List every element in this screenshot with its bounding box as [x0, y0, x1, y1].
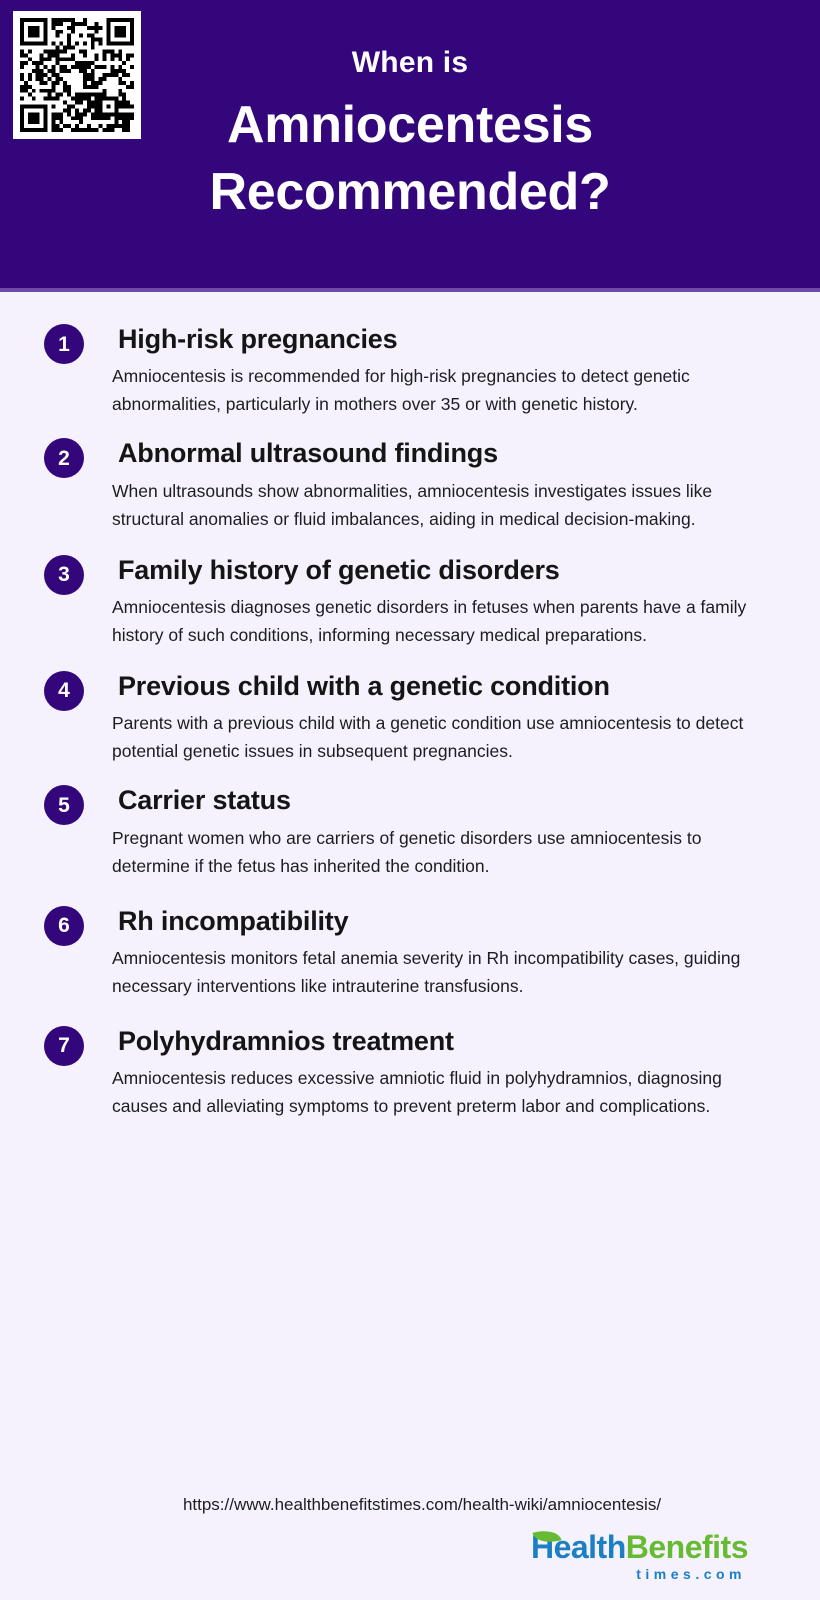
item-description: Amniocentesis reduces excessive amniotic… [112, 1064, 764, 1120]
list-item: 2 Abnormal ultrasound findings When ultr… [0, 434, 820, 532]
page-title-line2: Recommended? [160, 159, 660, 227]
item-description: When ultrasounds show abnormalities, amn… [112, 477, 764, 533]
logo-word-benefits: Benefits [626, 1529, 748, 1565]
list-item: 1 High-risk pregnancies Amniocentesis is… [0, 320, 820, 418]
list-item: 5 Carrier status Pregnant women who are … [0, 781, 820, 879]
item-body: High-risk pregnancies Amniocentesis is r… [118, 320, 764, 418]
infographic-page: When is Amniocentesis Recommended? 1 Hig… [0, 0, 820, 1600]
item-number-badge: 6 [44, 906, 84, 946]
item-number-badge: 4 [44, 671, 84, 711]
item-description: Amniocentesis is recommended for high-ri… [112, 362, 764, 418]
item-body: Family history of genetic disorders Amni… [118, 551, 764, 649]
list-item: 3 Family history of genetic disorders Am… [0, 551, 820, 649]
item-description: Pregnant women who are carriers of genet… [112, 824, 764, 880]
qr-code[interactable] [13, 11, 141, 139]
item-body: Carrier status Pregnant women who are ca… [118, 781, 764, 879]
logo-tagline: times.com [531, 1566, 748, 1582]
list-item: 6 Rh incompatibility Amniocentesis monit… [0, 902, 820, 1000]
qr-code-image [20, 18, 134, 132]
item-body: Abnormal ultrasound findings When ultras… [118, 434, 764, 532]
page-title: Amniocentesis Recommended? [160, 92, 660, 227]
item-number-badge: 7 [44, 1026, 84, 1066]
item-title: Previous child with a genetic condition [118, 667, 764, 705]
item-number-badge: 3 [44, 555, 84, 595]
list-item: 4 Previous child with a genetic conditio… [0, 667, 820, 765]
reasons-list: 1 High-risk pregnancies Amniocentesis is… [0, 292, 820, 1120]
header-kicker: When is [160, 44, 660, 82]
item-title: Abnormal ultrasound findings [118, 434, 764, 472]
item-number-badge: 2 [44, 438, 84, 478]
item-number-badge: 5 [44, 785, 84, 825]
item-body: Polyhydramnios treatment Amniocentesis r… [118, 1022, 764, 1120]
site-logo[interactable]: HealthBenefits times.com [0, 1531, 820, 1582]
item-body: Previous child with a genetic condition … [118, 667, 764, 765]
header-banner: When is Amniocentesis Recommended? [0, 0, 820, 292]
item-title: High-risk pregnancies [118, 320, 764, 358]
item-description: Amniocentesis diagnoses genetic disorder… [112, 593, 764, 649]
item-title: Rh incompatibility [118, 902, 764, 940]
footer: https://www.healthbenefitstimes.com/heal… [0, 1493, 820, 1600]
page-title-line1: Amniocentesis [160, 92, 660, 160]
list-item: 7 Polyhydramnios treatment Amniocentesis… [0, 1022, 820, 1120]
item-title: Polyhydramnios treatment [118, 1022, 764, 1060]
item-description: Parents with a previous child with a gen… [112, 709, 764, 765]
item-title: Carrier status [118, 781, 764, 819]
item-description: Amniocentesis monitors fetal anemia seve… [112, 944, 764, 1000]
item-number-badge: 1 [44, 324, 84, 364]
item-title: Family history of genetic disorders [118, 551, 764, 589]
item-body: Rh incompatibility Amniocentesis monitor… [118, 902, 764, 1000]
source-url-link[interactable]: https://www.healthbenefitstimes.com/heal… [0, 1493, 820, 1517]
title-block: When is Amniocentesis Recommended? [160, 44, 660, 227]
